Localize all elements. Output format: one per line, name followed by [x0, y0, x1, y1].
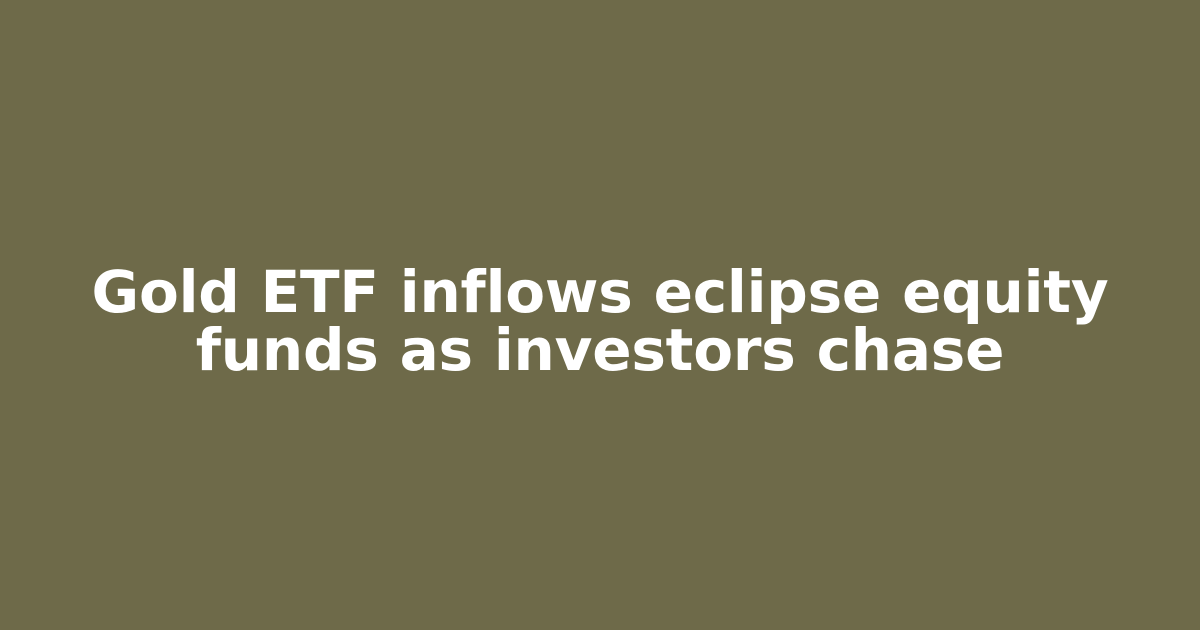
share-card: Gold ETF inflows eclipse equity funds as…	[0, 0, 1200, 630]
headline-block: Gold ETF inflows eclipse equity funds as…	[90, 263, 1110, 379]
page-title: Gold ETF inflows eclipse equity funds as…	[90, 263, 1110, 379]
